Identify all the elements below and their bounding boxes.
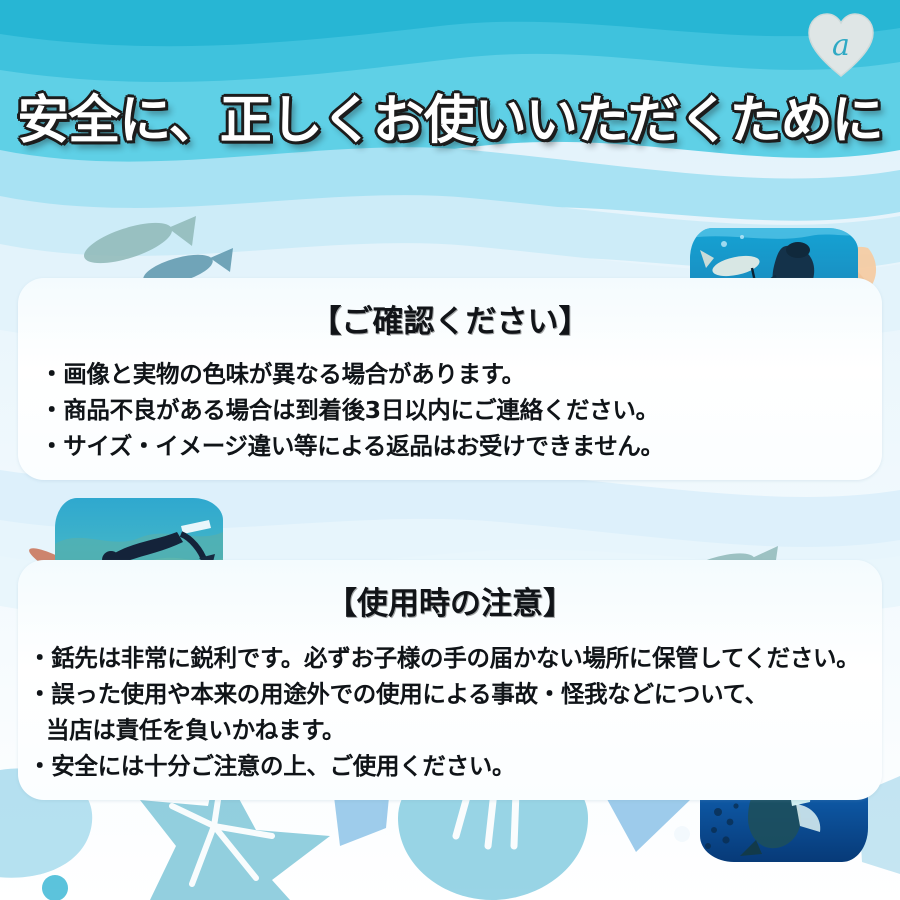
- list-item: ・商品不良がある場合は到着後3日以内にご連絡ください。: [40, 392, 900, 428]
- safety-notice-page: a 安全に、正しくお使いいただくために: [0, 0, 900, 900]
- usage-caution-heading: 【使用時の注意】: [0, 578, 900, 623]
- confirmation-heading: 【ご確認ください】: [0, 296, 900, 341]
- heart-logo: a: [806, 10, 876, 80]
- confirmation-list: ・画像と実物の色味が異なる場合があります。 ・商品不良がある場合は到着後3日以内…: [0, 356, 900, 464]
- list-item: ・サイズ・イメージ違い等による返品はお受けできません。: [40, 428, 900, 464]
- usage-caution-list: ・銛先は非常に鋭利です。必ずお子様の手の届かない場所に保管してください。 ・誤っ…: [0, 640, 900, 784]
- list-item: ・安全には十分ご注意の上、ご使用ください。: [28, 748, 900, 784]
- list-item: ・画像と実物の色味が異なる場合があります。: [40, 356, 900, 392]
- page-title: 安全に、正しくお使いいただくために: [0, 78, 900, 153]
- list-item: ・誤った使用や本来の用途外での使用による事故・怪我などについて、: [28, 676, 900, 712]
- logo-letter: a: [832, 28, 850, 63]
- list-item: 当店は責任を負いかねます。: [28, 712, 900, 748]
- list-item: ・銛先は非常に鋭利です。必ずお子様の手の届かない場所に保管してください。: [28, 640, 900, 676]
